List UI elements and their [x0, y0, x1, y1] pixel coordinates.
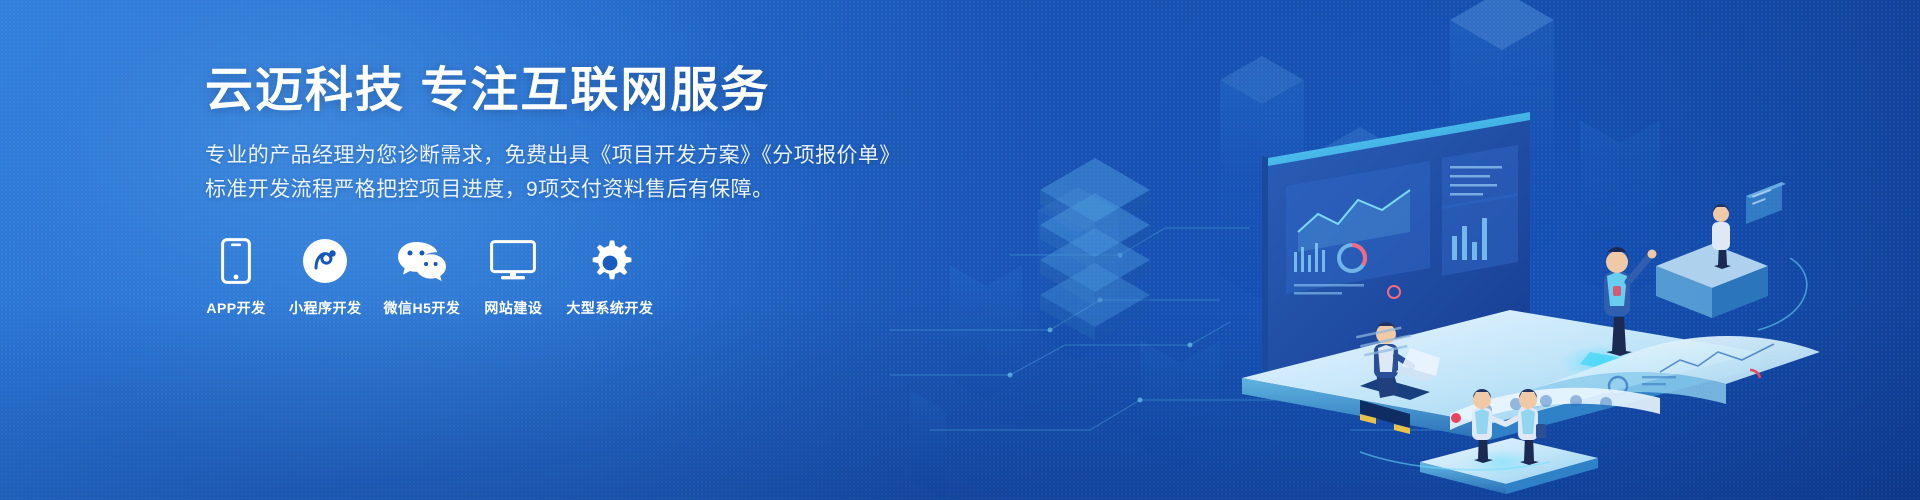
service-item-large-system[interactable]: 大型系统开发 [566, 232, 653, 318]
service-label: 微信H5开发 [384, 298, 461, 318]
two-people-on-phone [1420, 389, 1598, 494]
service-item-miniprogram[interactable]: 小程序开发 [289, 232, 362, 318]
service-list: APP开发 小程序开发 [205, 232, 653, 318]
service-item-wechat-h5[interactable]: 微信H5开发 [384, 232, 461, 318]
cube-person [1656, 204, 1768, 318]
dashboard-screen [1262, 112, 1530, 372]
banner-copy: 云迈科技 专注互联网服务 专业的产品经理为您诊断需求，免费出具《项目开发方案》《… [205, 62, 965, 207]
icon-pill-strip [1450, 388, 1660, 430]
isometric-illustration [890, 0, 1920, 500]
service-item-app[interactable]: APP开发 [205, 232, 267, 318]
standing-person [1604, 247, 1657, 356]
service-item-website[interactable]: 网站建设 [482, 232, 544, 318]
service-label: 小程序开发 [289, 298, 362, 318]
tablet-platform [1242, 310, 1760, 440]
page-title: 云迈科技 专注互联网服务 [205, 62, 965, 121]
seated-laptop-person [1356, 322, 1440, 434]
bottom-shade [0, 300, 1920, 500]
circuit-nodes [1008, 253, 1493, 408]
monitor-icon [482, 232, 544, 290]
connector-curve [1360, 258, 1807, 470]
subtitle-line-1: 专业的产品经理为您诊断需求，免费出具《项目开发方案》《分项报价单》 [205, 139, 965, 173]
service-label: 大型系统开发 [566, 298, 653, 318]
service-label: 网站建设 [484, 298, 542, 318]
gear-icon [579, 232, 641, 290]
subtitle-line-2: 标准开发流程严格把控项目进度，9项交付资料售后有保障。 [205, 173, 965, 207]
wechat-icon [391, 232, 453, 290]
server-stack [1040, 158, 1150, 341]
circuit-lines [890, 228, 1590, 430]
background-buildings [910, 0, 1660, 500]
data-chart-scroll [1526, 336, 1820, 412]
mini-program-icon [294, 232, 356, 290]
service-label: APP开发 [206, 298, 265, 318]
mobile-phone-icon [205, 232, 267, 290]
hero-banner: 云迈科技 专注互联网服务 专业的产品经理为您诊断需求，免费出具《项目开发方案》《… [0, 0, 1920, 500]
floating-panels [1746, 182, 1786, 224]
